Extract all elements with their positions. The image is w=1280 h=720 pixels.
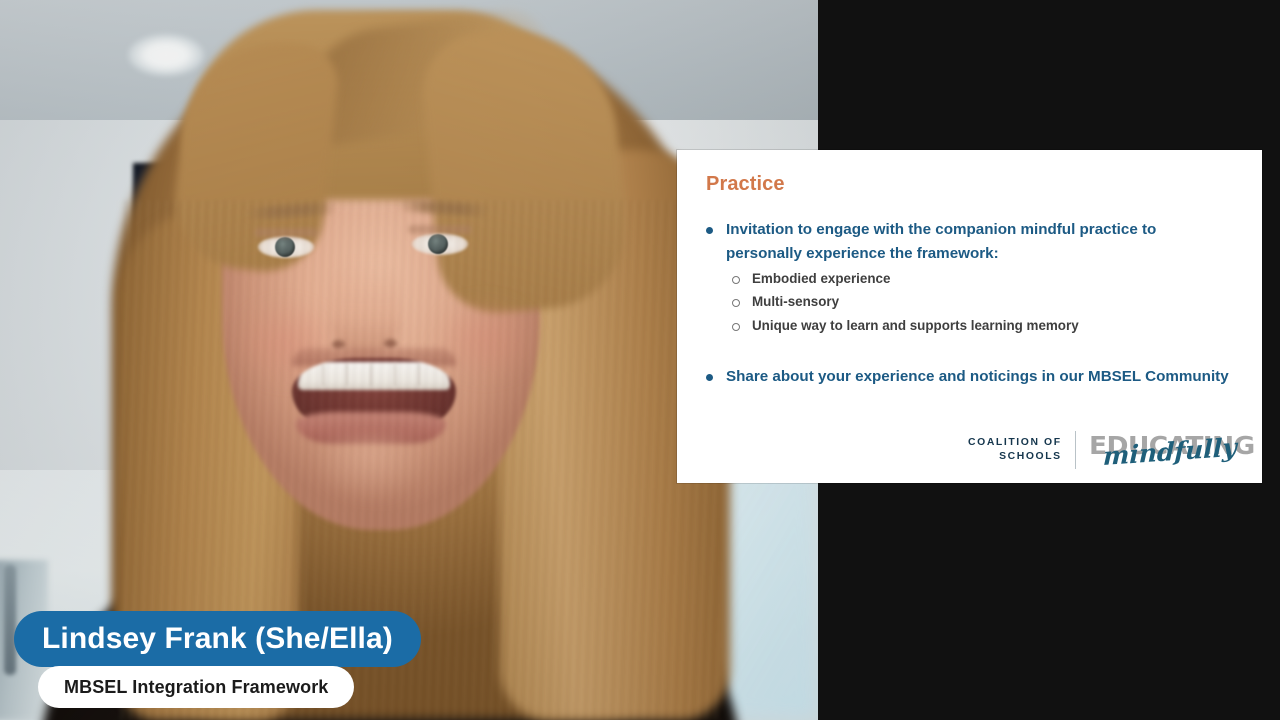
mindfully-script-text: mindfully — [1102, 436, 1245, 467]
participant-name-banner: Lindsey Frank (She/Ella) — [14, 611, 421, 667]
shared-slide[interactable]: Practice Invitation to engage with the c… — [677, 150, 1262, 483]
coalition-line-2: SCHOOLS — [968, 450, 1062, 464]
slide-title: Practice — [706, 173, 785, 196]
bullet-circle-icon — [732, 276, 740, 284]
educating-mindfully-wordmark: EDUCATING mindfully — [1076, 433, 1245, 467]
sub-bullet-text: Unique way to learn and supports learnin… — [752, 314, 1079, 337]
bullet-circle-icon — [732, 299, 740, 307]
participant-subtitle-label: MBSEL Integration Framework — [64, 677, 328, 698]
sub-bullet-item: Embodied experience — [732, 267, 1236, 290]
coalition-of-schools-wordmark: COALITION OF SCHOOLS — [968, 436, 1075, 464]
bullet-group-2: Share about your experience and noticing… — [706, 365, 1236, 389]
bullet-item: Share about your experience and noticing… — [706, 365, 1236, 389]
sub-bullet-text: Multi-sensory — [752, 290, 839, 313]
sub-bullet-list: Embodied experience Multi-sensory Unique… — [732, 267, 1236, 337]
participant-subtitle-pill: MBSEL Integration Framework — [38, 666, 354, 708]
webinar-screen: Practice Invitation to engage with the c… — [0, 0, 1280, 720]
organization-logo: COALITION OF SCHOOLS EDUCATING mindfully — [968, 431, 1245, 469]
bullet-dot-icon — [706, 227, 713, 234]
sub-bullet-item: Unique way to learn and supports learnin… — [732, 314, 1236, 337]
sub-bullet-item: Multi-sensory — [732, 290, 1236, 313]
bullet-circle-icon — [732, 323, 740, 331]
bullet-group-1: Invitation to engage with the companion … — [706, 218, 1236, 337]
bullet-dot-icon — [706, 374, 713, 381]
sub-bullet-text: Embodied experience — [752, 267, 890, 290]
bullet-spacer — [706, 343, 1236, 365]
coalition-line-1: COALITION OF — [968, 436, 1062, 450]
bullet-text: Share about your experience and noticing… — [726, 365, 1236, 389]
participant-name-label: Lindsey Frank (She/Ella) — [42, 622, 393, 656]
slide-body: Invitation to engage with the companion … — [706, 218, 1236, 395]
bullet-text: Invitation to engage with the companion … — [726, 218, 1236, 266]
bullet-item: Invitation to engage with the companion … — [706, 218, 1236, 266]
